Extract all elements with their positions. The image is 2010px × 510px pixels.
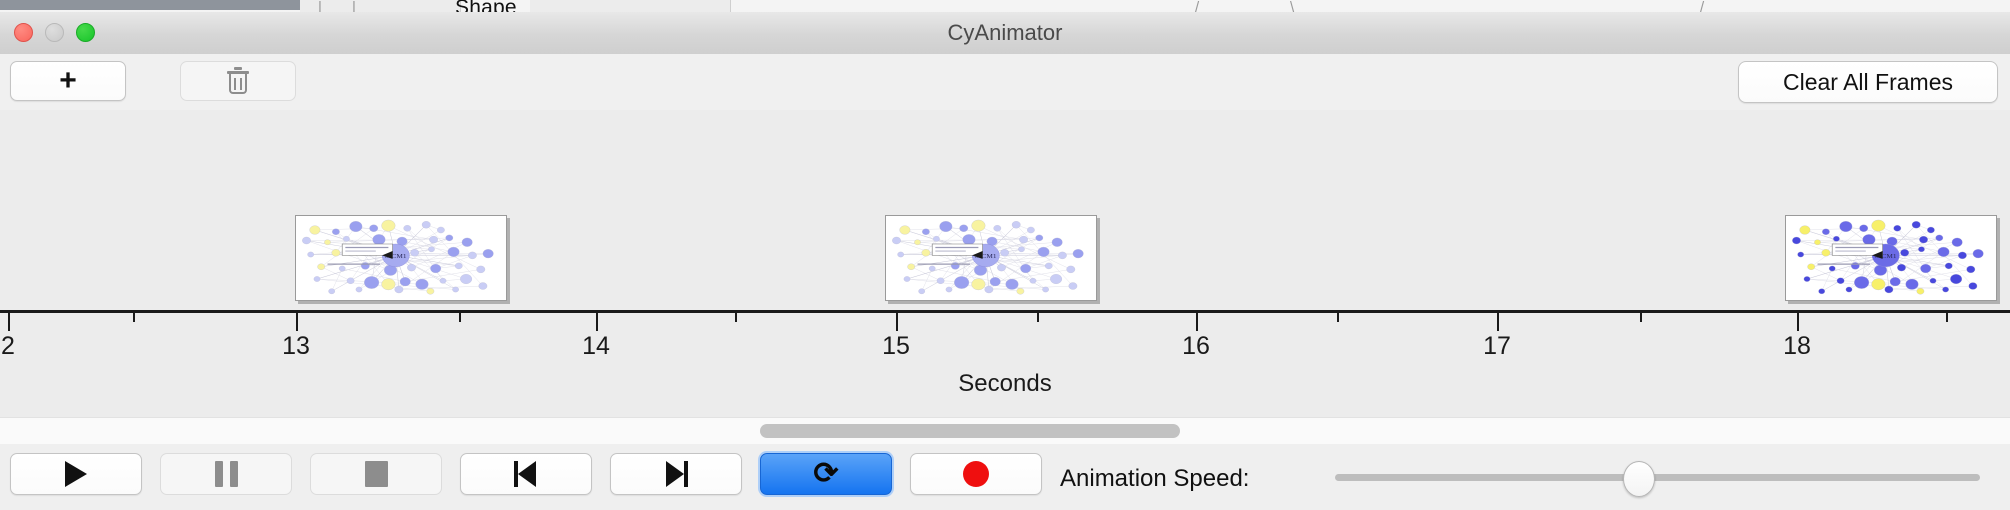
axis-tick [1946,313,1948,322]
axis-tick-label: 2 [1,332,15,361]
timeline-panel[interactable]: MCM1 MCM1 MCM1 2131415161718 Seconds [0,110,2010,417]
axis-tick [459,313,461,322]
add-frame-button[interactable]: + [10,61,126,101]
skip-forward-button[interactable] [610,453,742,495]
trash-icon [226,67,250,95]
slider-knob[interactable] [1623,461,1655,497]
axis-tick [8,313,10,331]
stop-icon [365,461,388,487]
window-title: CyAnimator [0,12,2010,54]
axis-tick [1196,313,1198,331]
play-icon [65,461,87,487]
scrollbar-thumb[interactable] [760,424,1180,438]
clear-all-frames-label: Clear All Frames [1783,69,1953,96]
timeline-axis [0,310,2010,313]
frame-strip[interactable]: MCM1 MCM1 MCM1 [0,110,2010,310]
loop-icon: ⟳ [813,459,838,489]
skip-back-icon [514,461,538,487]
axis-tick-label: 17 [1483,332,1511,361]
title-bar: CyAnimator [0,12,2010,55]
loop-button[interactable]: ⟳ [760,453,892,495]
clear-all-frames-button[interactable]: Clear All Frames [1738,61,1998,103]
axis-tick-label: 18 [1783,332,1811,361]
horizontal-scrollbar[interactable] [0,417,2010,445]
background-dark-region [0,0,300,10]
axis-tick [296,313,298,331]
axis-tick [1797,313,1799,331]
pause-button[interactable] [160,453,292,495]
axis-tick [133,313,135,322]
frame-thumbnail-3[interactable]: MCM1 [1785,215,1997,301]
record-button[interactable] [910,453,1042,495]
plus-icon: + [59,66,77,96]
axis-tick [896,313,898,331]
frame-toolbar: + Clear All Frames [0,54,2010,111]
axis-tick [735,313,737,322]
skip-back-button[interactable] [460,453,592,495]
axis-tick-label: 15 [882,332,910,361]
axis-title: Seconds [0,370,2010,398]
pause-icon [215,461,238,487]
axis-tick-label: 14 [582,332,610,361]
stop-button[interactable] [310,453,442,495]
axis-tick [1640,313,1642,322]
playback-bar: ⟳ Animation Speed: [0,444,2010,510]
slider-track[interactable] [1335,474,1980,481]
frame-thumbnail-1[interactable]: MCM1 [295,215,507,301]
axis-tick [1497,313,1499,331]
axis-tick [1337,313,1339,322]
animation-speed-label: Animation Speed: [1060,465,1249,493]
frame-thumbnail-2[interactable]: MCM1 [885,215,1097,301]
play-button[interactable] [10,453,142,495]
skip-forward-icon [664,461,688,487]
animation-speed-slider[interactable] [1335,444,1980,510]
delete-frame-button[interactable] [180,61,296,101]
axis-tick-label: 16 [1182,332,1210,361]
record-icon [963,461,989,487]
cyanimator-window: | | / \ / Shape CyAnimator + Clear All F… [0,0,2010,510]
axis-tick [596,313,598,331]
axis-tick-label: 13 [282,332,310,361]
axis-tick [1037,313,1039,322]
